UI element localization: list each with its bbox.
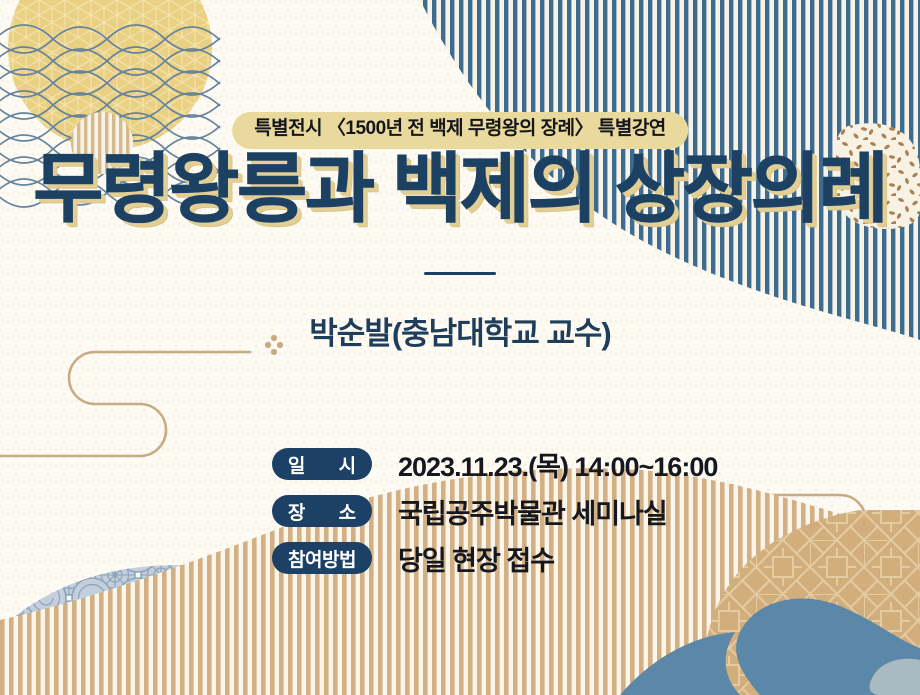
subtitle-banner: 특별전시 〈1500년 전 백제 무령왕의 장례〉 특별강연 [232,112,688,149]
poster-content: 특별전시 〈1500년 전 백제 무령왕의 장례〉 특별강연 무령왕릉과 백제의… [0,0,920,695]
info-value-datetime: 2023.11.23.(목) 14:00~16:00 [398,445,717,484]
info-value-location: 국립공주박물관 세미나실 [398,492,667,531]
info-label-participation: 참여방법 [272,542,372,574]
title-divider [424,272,496,275]
info-label-datetime: 일 시 [272,448,372,480]
info-label-location: 장 소 [272,495,372,527]
page-title: 무령왕릉과 백제의 상장의례 [0,150,920,230]
event-info-block: 일 시 2023.11.23.(목) 14:00~16:00 장 소 국립공주박… [272,444,717,585]
info-row-datetime: 일 시 2023.11.23.(목) 14:00~16:00 [272,444,717,484]
info-row-participation: 참여방법 당일 현장 접수 [272,538,717,578]
info-value-participation: 당일 현장 접수 [398,539,554,578]
poster-canvas: 특별전시 〈1500년 전 백제 무령왕의 장례〉 특별강연 무령왕릉과 백제의… [0,0,920,695]
speaker-name: 박순발(충남대학교 교수) [0,308,920,353]
info-row-location: 장 소 국립공주박물관 세미나실 [272,491,717,531]
